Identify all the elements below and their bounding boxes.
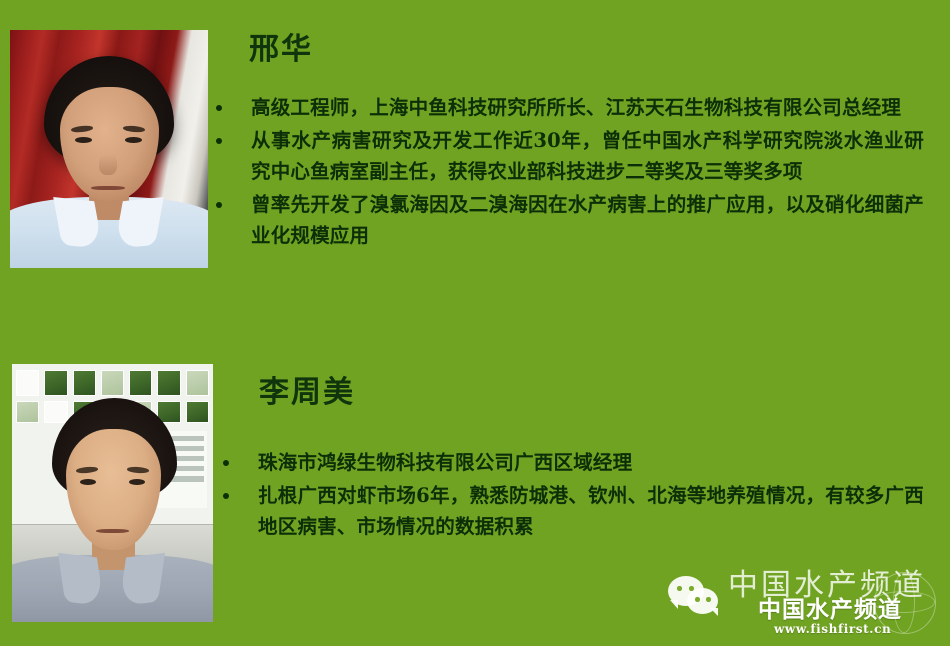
bullet-list-xinghua: 高级工程师，上海中鱼科技研究所所长、江苏天石生物科技有限公司总经理 从事水产病害… <box>212 92 924 253</box>
person-name-lizhoumei: 李周美 <box>259 375 355 411</box>
portrait-photo-lizhoumei <box>12 364 213 622</box>
watermark-url: www.fishfirst.cn <box>774 622 891 636</box>
slide-canvas: 邢华 高级工程师，上海中鱼科技研究所所长、江苏天石生物科技有限公司总经理 从事水… <box>0 0 950 646</box>
portrait-photo-xinghua <box>10 30 208 268</box>
photo-nose <box>99 154 117 175</box>
watermark-logo-text: 中国水产频道 <box>758 597 902 623</box>
watermark: 中国水产频道 中国水产频道 www.fishfirst.cn <box>654 564 942 640</box>
bullet-item: 高级工程师，上海中鱼科技研究所所长、江苏天石生物科技有限公司总经理 <box>212 92 924 123</box>
photo-eye-right <box>129 479 145 485</box>
wechat-icon <box>668 576 722 616</box>
photo-poster-row <box>16 370 209 396</box>
bullet-item: 曾率先开发了溴氯海因及二溴海因在水产病害上的推广应用，以及硝化细菌产业化规模应用 <box>212 189 924 251</box>
bullet-item: 扎根广西对虾市场6年，熟悉防城港、钦州、北海等地养殖情况，有较多广西地区病害、市… <box>219 480 924 542</box>
bullet-item: 从事水产病害研究及开发工作近30年，曾任中国水产科学研究院淡水渔业研究中心鱼病室… <box>212 125 924 187</box>
person-name-xinghua: 邢华 <box>249 32 313 68</box>
bullet-item: 珠海市鸿绿生物科技有限公司广西区域经理 <box>219 447 924 478</box>
bullet-list-lizhoumei: 珠海市鸿绿生物科技有限公司广西区域经理 扎根广西对虾市场6年，熟悉防城港、钦州、… <box>219 447 924 544</box>
